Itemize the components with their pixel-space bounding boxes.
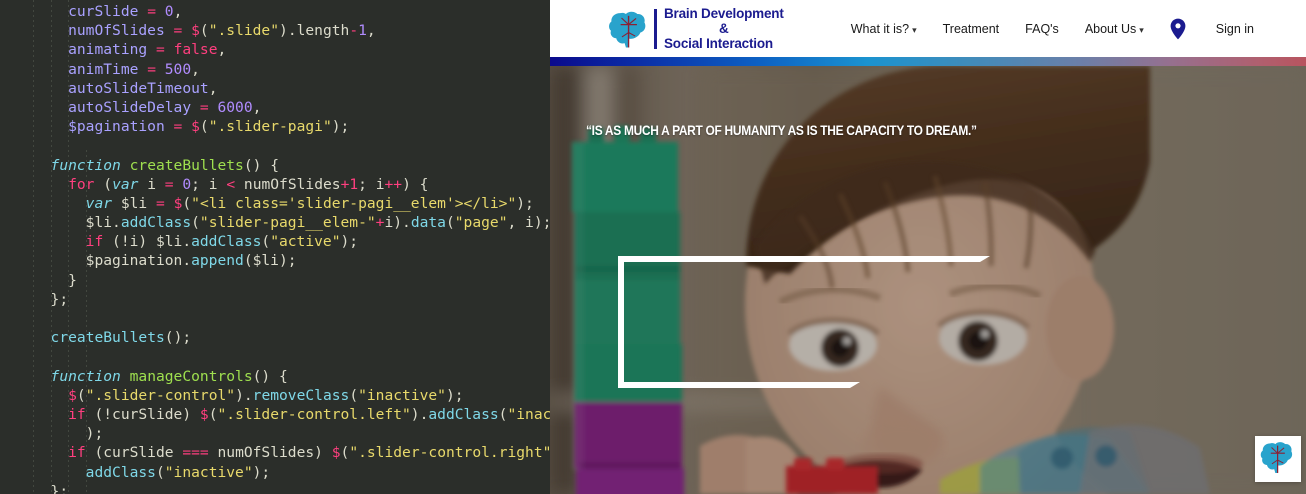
code-token: var	[86, 195, 121, 212]
code-token: ,	[174, 3, 183, 20]
nav-label: What it is?	[851, 22, 909, 36]
code-token: if	[68, 444, 94, 461]
code-token: (	[209, 406, 218, 423]
code-line: addClass("inactive");	[33, 463, 550, 482]
site-header: Brain Development & Social Interaction W…	[550, 0, 1306, 57]
nav-label: About Us	[1085, 22, 1136, 36]
hero-quote-text: “IS AS MUCH A PART OF HUMANITY AS IS THE…	[586, 123, 912, 138]
map-pin-icon[interactable]	[1170, 18, 1186, 40]
site-logo[interactable]: Brain Development & Social Interaction	[607, 6, 784, 51]
logo-divider	[654, 9, 657, 49]
code-token: ).	[411, 406, 429, 423]
code-token: $li.	[86, 214, 121, 231]
code-token: animTime	[68, 61, 147, 78]
code-token: );	[86, 425, 104, 442]
code-line: if (!curSlide) $(".slider-control.left")…	[33, 405, 550, 424]
code-line: function createBullets() {	[33, 156, 550, 175]
code-token: "<li class='slider-pagi__elem'></li>"	[191, 195, 516, 212]
code-token: 0	[165, 3, 174, 20]
code-token: );	[253, 464, 271, 481]
code-token: i).	[384, 214, 410, 231]
code-token: ".slider-pagi"	[209, 118, 332, 135]
code-line: if (curSlide === numOfSlides) $(".slider…	[33, 443, 550, 462]
code-token: (!curSlide)	[94, 406, 199, 423]
code-line: $li.addClass("slider-pagi__elem-"+i).dat…	[33, 213, 550, 232]
code-token: }	[68, 272, 77, 289]
code-token: for	[68, 176, 103, 193]
code-token: () {	[244, 157, 279, 174]
main-navigation: What it is?▾ Treatment FAQ's About Us▾	[851, 0, 1306, 57]
code-token: =	[156, 195, 174, 212]
code-token: ();	[165, 329, 191, 346]
code-token: ($li);	[244, 252, 297, 269]
screen-root: curSlide = 0,numOfSlides = $(".slide").l…	[0, 0, 1306, 494]
chevron-down-icon: ▾	[912, 25, 917, 35]
code-token: };	[51, 291, 69, 308]
code-token: "active"	[270, 233, 340, 250]
code-token: "inacti	[507, 406, 550, 423]
code-token: $	[68, 387, 77, 404]
code-token: var	[112, 176, 147, 193]
code-line: createBullets();	[33, 328, 550, 347]
code-token: );	[516, 195, 534, 212]
code-token: (	[341, 444, 350, 461]
code-line: );	[33, 424, 550, 443]
gradient-divider-bar	[550, 57, 1306, 66]
logo-line-3: Social Interaction	[664, 36, 784, 51]
browser-page: Brain Development & Social Interaction W…	[550, 0, 1306, 494]
quote-frame-bottom-border	[618, 382, 860, 388]
code-token: $pagination	[68, 118, 173, 135]
code-token: ===	[182, 444, 217, 461]
code-token: };	[51, 483, 69, 494]
code-token: (	[349, 387, 358, 404]
code-token: =	[156, 41, 174, 58]
code-token: (	[191, 214, 200, 231]
quote-frame-left-border	[618, 256, 624, 388]
code-token: createBullets	[130, 157, 244, 174]
code-token: 6000	[217, 99, 252, 116]
code-token: ,	[218, 41, 227, 58]
code-line: animTime = 500,	[33, 60, 550, 79]
logo-line-1: Brain Development	[664, 6, 784, 21]
code-token: (	[446, 214, 455, 231]
code-token: ".slider-control"	[86, 387, 235, 404]
code-token: numOfSlides)	[218, 444, 332, 461]
code-token: false	[174, 41, 218, 58]
code-token: ".slide"	[209, 22, 279, 39]
code-line: numOfSlides = $(".slide").length-1,	[33, 21, 550, 40]
code-token: "slider-pagi__elem-"	[200, 214, 376, 231]
code-token: (!i) $li.	[112, 233, 191, 250]
code-line: animating = false,	[33, 40, 550, 59]
code-token: i	[147, 176, 165, 193]
code-token: addClass	[191, 233, 261, 250]
nav-item-treatment[interactable]: Treatment	[943, 22, 1000, 36]
brain-icon	[1259, 438, 1297, 481]
code-token: ".slider-control.right"	[349, 444, 550, 461]
code-token: addClass	[428, 406, 498, 423]
code-line: };	[33, 290, 550, 309]
code-token: "page"	[455, 214, 508, 231]
code-token: $	[200, 406, 209, 423]
code-token: (	[200, 22, 209, 39]
code-token: append	[191, 252, 244, 269]
code-token: createBullets	[51, 329, 165, 346]
chevron-down-icon: ▾	[1139, 25, 1144, 35]
sign-in-link[interactable]: Sign in	[1216, 22, 1254, 36]
code-token: data	[411, 214, 446, 231]
code-line: $pagination = $(".slider-pagi");	[33, 117, 550, 136]
code-token: );	[332, 118, 350, 135]
code-token: (	[103, 176, 112, 193]
code-line: for (var i = 0; i < numOfSlides+1; i++) …	[33, 175, 550, 194]
code-token: () {	[253, 368, 288, 385]
code-line: $pagination.append($li);	[33, 251, 550, 270]
nav-label: FAQ's	[1025, 22, 1059, 36]
code-line: $(".slider-control").removeClass("inacti…	[33, 386, 550, 405]
code-token: =	[165, 176, 183, 193]
code-token: , i);	[507, 214, 550, 231]
code-token: =	[174, 22, 192, 39]
code-line: if (!i) $li.addClass("active");	[33, 232, 550, 251]
nav-label: Treatment	[943, 22, 1000, 36]
code-token: ) {	[402, 176, 428, 193]
brain-icon	[607, 7, 651, 51]
code-token: numOfSlides	[244, 176, 341, 193]
code-line	[33, 347, 550, 366]
code-token: curSlide	[68, 3, 147, 20]
code-token: ++	[385, 176, 403, 193]
code-token: autoSlideDelay	[68, 99, 200, 116]
code-line: var $li = $("<li class='slider-pagi__ele…	[33, 194, 550, 213]
logo-text: Brain Development & Social Interaction	[664, 6, 784, 51]
code-line	[33, 136, 550, 155]
code-content[interactable]: curSlide = 0,numOfSlides = $(".slide").l…	[33, 2, 550, 494]
code-token: numOfSlides	[68, 22, 173, 39]
code-token: function	[51, 368, 130, 385]
code-token: manageControls	[130, 368, 253, 385]
code-token: );	[341, 233, 359, 250]
code-token: (	[156, 464, 165, 481]
logo-line-2: &	[664, 21, 784, 36]
code-token: (	[200, 118, 209, 135]
code-line: }	[33, 271, 550, 290]
code-token: ,	[209, 80, 218, 97]
code-token: function	[51, 157, 130, 174]
nav-item-about-us[interactable]: About Us▾	[1085, 22, 1144, 36]
code-token: );	[446, 387, 464, 404]
code-token: (	[182, 195, 191, 212]
code-token: (curSlide	[94, 444, 182, 461]
code-token: =	[174, 118, 192, 135]
code-token: ).	[235, 387, 253, 404]
code-token: 1	[358, 22, 367, 39]
code-token: autoSlideTimeout	[68, 80, 209, 97]
code-token: )	[279, 22, 288, 39]
code-token: if	[86, 233, 112, 250]
code-token: $pagination.	[86, 252, 191, 269]
code-token: "inactive"	[358, 387, 446, 404]
code-token: ,	[253, 99, 262, 116]
code-line: curSlide = 0,	[33, 2, 550, 21]
code-token: (	[261, 233, 270, 250]
code-token: $li	[121, 195, 156, 212]
code-token: 0	[182, 176, 191, 193]
code-token: =	[147, 61, 165, 78]
code-token: +1	[341, 176, 359, 193]
code-token: (	[77, 387, 86, 404]
code-token: ; i	[358, 176, 384, 193]
code-token: =	[200, 99, 218, 116]
code-token: "inactive"	[165, 464, 253, 481]
quote-frame	[618, 256, 996, 388]
code-token: animating	[68, 41, 156, 58]
code-line: };	[33, 482, 550, 494]
code-editor-pane[interactable]: curSlide = 0,numOfSlides = $(".slide").l…	[0, 0, 550, 494]
code-token: addClass	[121, 214, 191, 231]
code-token: if	[68, 406, 94, 423]
nav-item-faqs[interactable]: FAQ's	[1025, 22, 1059, 36]
code-token: =	[147, 3, 165, 20]
code-token: ,	[191, 61, 200, 78]
code-token: $	[332, 444, 341, 461]
quote-frame-top-border	[618, 256, 990, 262]
code-token: $	[191, 22, 200, 39]
code-line: autoSlideDelay = 6000,	[33, 98, 550, 117]
code-line	[33, 309, 550, 328]
code-token: addClass	[86, 464, 156, 481]
code-token: ,	[367, 22, 376, 39]
code-token: $	[191, 118, 200, 135]
code-line: autoSlideTimeout,	[33, 79, 550, 98]
code-token: <	[226, 176, 244, 193]
code-token: 500	[165, 61, 191, 78]
code-token: ; i	[191, 176, 226, 193]
hero-section: “IS AS MUCH A PART OF HUMANITY AS IS THE…	[550, 66, 1306, 494]
code-token: -	[349, 22, 358, 39]
code-token: .length	[288, 22, 350, 39]
code-token: ".slider-control.left"	[218, 406, 411, 423]
code-token: removeClass	[253, 387, 350, 404]
nav-item-what-it-is[interactable]: What it is?▾	[851, 22, 917, 36]
code-line: function manageControls() {	[33, 367, 550, 386]
floating-brain-widget[interactable]	[1255, 436, 1301, 482]
